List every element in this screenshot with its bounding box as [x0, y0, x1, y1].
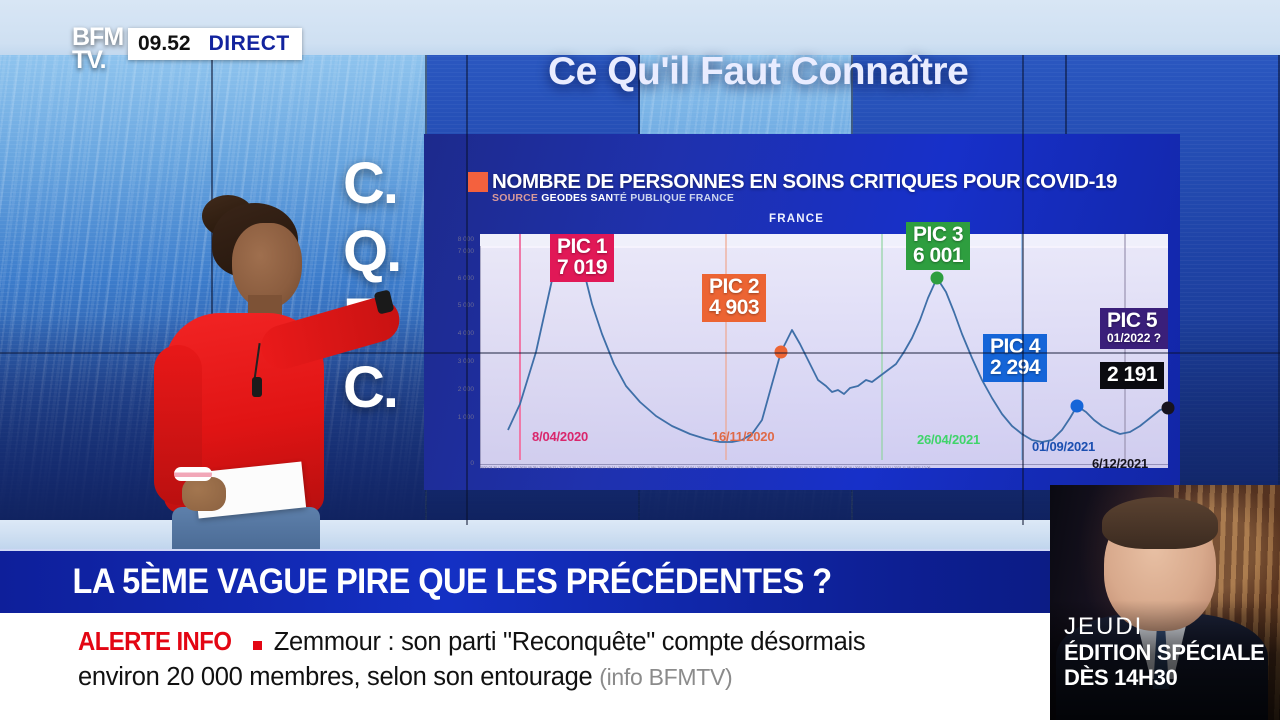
- wall-seam-vertical: [466, 55, 468, 525]
- peak-badge-4: PIC 4 2 294: [983, 334, 1047, 382]
- peak-badge-1: PIC 1 7 019: [550, 234, 614, 282]
- alert-source: (info BFMTV): [599, 664, 732, 690]
- peak-badge-4-value: 2 294: [990, 357, 1040, 378]
- peak-dot-3: [931, 272, 944, 285]
- peak-badge-5-sublabel: 01/2022 ?: [1107, 331, 1161, 346]
- peak-badge-3-label: PIC 3: [913, 224, 963, 245]
- slide-accent-square: [468, 172, 488, 192]
- channel-logo-line2: TV.: [72, 49, 123, 72]
- promo-title: ÉDITION SPÉCIALE: [1064, 640, 1265, 665]
- peak-badge-1-label: PIC 1: [557, 236, 607, 257]
- live-badge: DIRECT: [209, 32, 290, 56]
- peak-badge-1-value: 7 019: [557, 257, 607, 278]
- peak-badge-5-label: PIC 5: [1107, 310, 1161, 331]
- peak-badge-5-value-box: 2 191: [1100, 362, 1164, 389]
- covid-chart-slide: NOMBRE DE PERSONNES EN SOINS CRITIQUES P…: [424, 134, 1180, 490]
- peak-date-2: 16/11/2020: [712, 429, 774, 444]
- peak-dot-4: [1071, 400, 1084, 413]
- peak-badge-2-value: 4 903: [709, 297, 759, 318]
- slide-subtitle: FRANCE: [769, 213, 824, 225]
- promo-time: DÈS 14H30: [1064, 665, 1265, 690]
- show-title: Ce Qu'il Faut Connaître: [548, 50, 968, 94]
- y-tick: 0: [470, 460, 474, 467]
- presenter-holding-hand: [182, 477, 226, 511]
- promo-person-hair: [1102, 497, 1218, 549]
- alert-text-line2: environ 20 000 membres, selon son entour…: [78, 663, 592, 691]
- peak-badge-2: PIC 2 4 903: [702, 274, 766, 322]
- peak-date-5: 6/12/2021: [1092, 456, 1148, 471]
- source-name: GEODES SAN: [541, 192, 613, 204]
- peak-date-1: 8/04/2020: [532, 429, 588, 444]
- peak-date-4: 01/09/2021: [1032, 439, 1095, 454]
- alert-text-line1: Zemmour : son parti "Reconquête" compte …: [274, 628, 866, 657]
- chart-y-tick-labels: 8 000 7 000 6 000 5 000 4 000 3 000 2 00…: [434, 234, 478, 474]
- wall-seam-vertical: [1022, 55, 1024, 525]
- alert-tag: ALERTE INFO: [78, 626, 231, 657]
- broadcast-screen: Ce Qu'il Faut Connaître C. Q. F. C. NOMB…: [0, 0, 1280, 720]
- peak-date-3: 26/04/2021: [917, 432, 980, 447]
- promo-day: JEUDI: [1064, 614, 1265, 640]
- presenter: [86, 195, 386, 585]
- peak-dot-5: [1162, 402, 1175, 415]
- clock-direct-bar: 09.52 DIRECT: [128, 28, 302, 60]
- channel-logo: BFM TV.: [72, 26, 123, 72]
- source-prefix: SOURCE: [492, 192, 538, 204]
- peak-badge-3-value: 6 001: [913, 245, 963, 266]
- headline-text: LA 5ÈME VAGUE PIRE QUE LES PRÉCÉDENTES ?: [0, 562, 832, 602]
- promo-text: JEUDI ÉDITION SPÉCIALE DÈS 14H30: [1064, 614, 1265, 690]
- slide-source: SOURCE GEODES SANTÉ PUBLIQUE FRANCE: [492, 192, 734, 204]
- presenter-lapel-mic: [252, 377, 262, 397]
- peak-badge-5: PIC 5 01/2022 ?: [1100, 308, 1168, 349]
- x-tick-row: 2020 03 30 | 2020 04 27 | 2020 05 25 | 2…: [480, 466, 930, 470]
- source-rest: TÉ PUBLIQUE FRANCE: [613, 192, 734, 204]
- chart-x-tick-labels: 2020 03 30 | 2020 04 27 | 2020 05 25 | 2…: [480, 466, 1168, 470]
- presenter-bracelet: [174, 467, 212, 481]
- peak-badge-3: PIC 3 6 001: [906, 222, 970, 270]
- peak-badge-5-value: 2 191: [1107, 364, 1157, 385]
- peak-badge-2-label: PIC 2: [709, 276, 759, 297]
- alert-square-icon: [253, 641, 262, 650]
- current-time: 09.52: [138, 32, 191, 56]
- promo-box[interactable]: JEUDI ÉDITION SPÉCIALE DÈS 14H30: [1050, 485, 1280, 720]
